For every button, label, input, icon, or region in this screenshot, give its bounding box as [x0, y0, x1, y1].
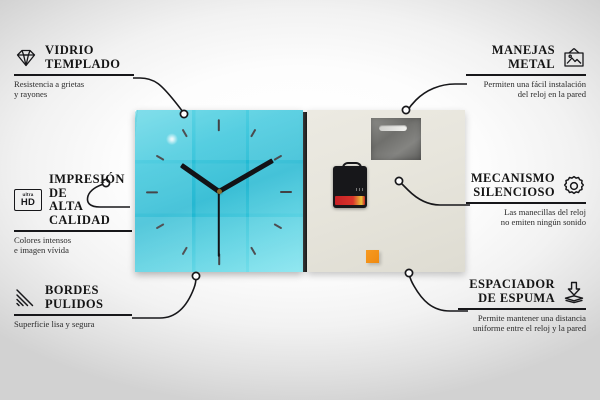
callout-header: ESPACIADOR DE ESPUMA [458, 278, 586, 305]
callout-header: MECANISMO SILENCIOSO [466, 172, 586, 199]
callout-impresion-alta-calidad[interactable]: ultra HD IMPRESIÓN DE ALTA CALIDAD Color… [14, 173, 132, 255]
callout-rule [14, 230, 132, 232]
callout-title: BORDES PULIDOS [45, 284, 103, 311]
callout-subtitle: Colores intensos e imagen vívida [14, 235, 132, 256]
callout-title: ESPACIADOR DE ESPUMA [469, 278, 555, 305]
clock-front-panel [135, 110, 303, 272]
leader-line-manejas [407, 84, 467, 111]
product-image [135, 110, 465, 272]
callout-subtitle: Las manecillas del reloj no emiten ningú… [466, 207, 586, 228]
callout-header: BORDES PULIDOS [14, 284, 132, 311]
clock-hour-hand [180, 163, 221, 193]
callout-header: MANEJAS METAL [466, 44, 586, 71]
callout-mecanismo-silencioso[interactable]: MECANISMO SILENCIOSO Las manecillas del … [466, 172, 586, 227]
callout-espaciador-espuma[interactable]: ESPACIADOR DE ESPUMA Permite mantener un… [458, 278, 586, 333]
clock-back-panel [307, 110, 465, 272]
leader-line-bordes [132, 277, 196, 318]
leader-line-vidrio-templado [133, 78, 183, 112]
callout-dot-bordes [192, 272, 199, 279]
callout-header: ultra HD IMPRESIÓN DE ALTA CALIDAD [14, 173, 132, 227]
metal-hanger-part [371, 118, 421, 160]
wall-hanger-icon [562, 46, 586, 70]
callout-subtitle: Permite mantener una distancia uniforme … [458, 313, 586, 334]
callout-subtitle: Resistencia a grietas y rayones [14, 79, 134, 100]
foam-spacer-part [366, 250, 379, 263]
diamond-icon [14, 46, 38, 70]
callout-rule [14, 314, 132, 316]
callout-rule [466, 74, 586, 76]
clock-second-hand [218, 191, 220, 257]
mechanism-label-strip [335, 196, 365, 205]
callout-rule [466, 202, 586, 204]
gear-icon [562, 174, 586, 198]
clock-mechanism-part [333, 166, 367, 208]
hanger-slot [379, 125, 407, 131]
callout-bordes-pulidos[interactable]: BORDES PULIDOS Superficie lisa y segura [14, 284, 132, 329]
mechanism-loop [342, 162, 362, 173]
infographic-canvas: VIDRIO TEMPLADO Resistencia a grietas y … [0, 0, 600, 400]
ultra-hd-icon-bottom: HD [21, 198, 35, 208]
foam-spacer-icon [562, 280, 586, 304]
clock-center-cap [217, 189, 222, 194]
callout-title: VIDRIO TEMPLADO [45, 44, 120, 71]
callout-title: MECANISMO SILENCIOSO [471, 172, 555, 199]
callout-rule [14, 74, 134, 76]
polished-edge-icon [14, 286, 38, 310]
callout-manejas-metal[interactable]: MANEJAS METAL Permiten una fácil instala… [466, 44, 586, 99]
clock-minute-hand [218, 158, 274, 193]
callout-title: IMPRESIÓN DE ALTA CALIDAD [49, 173, 132, 227]
callout-vidrio-templado[interactable]: VIDRIO TEMPLADO Resistencia a grietas y … [14, 44, 134, 99]
callout-title: MANEJAS METAL [492, 44, 555, 71]
ultra-hd-icon: ultra HD [14, 189, 42, 211]
callout-header: VIDRIO TEMPLADO [14, 44, 134, 71]
callout-subtitle: Superficie lisa y segura [14, 319, 132, 329]
mechanism-markings [356, 188, 364, 191]
callout-subtitle: Permiten una fácil instalación del reloj… [466, 79, 586, 100]
callout-rule [458, 308, 586, 310]
